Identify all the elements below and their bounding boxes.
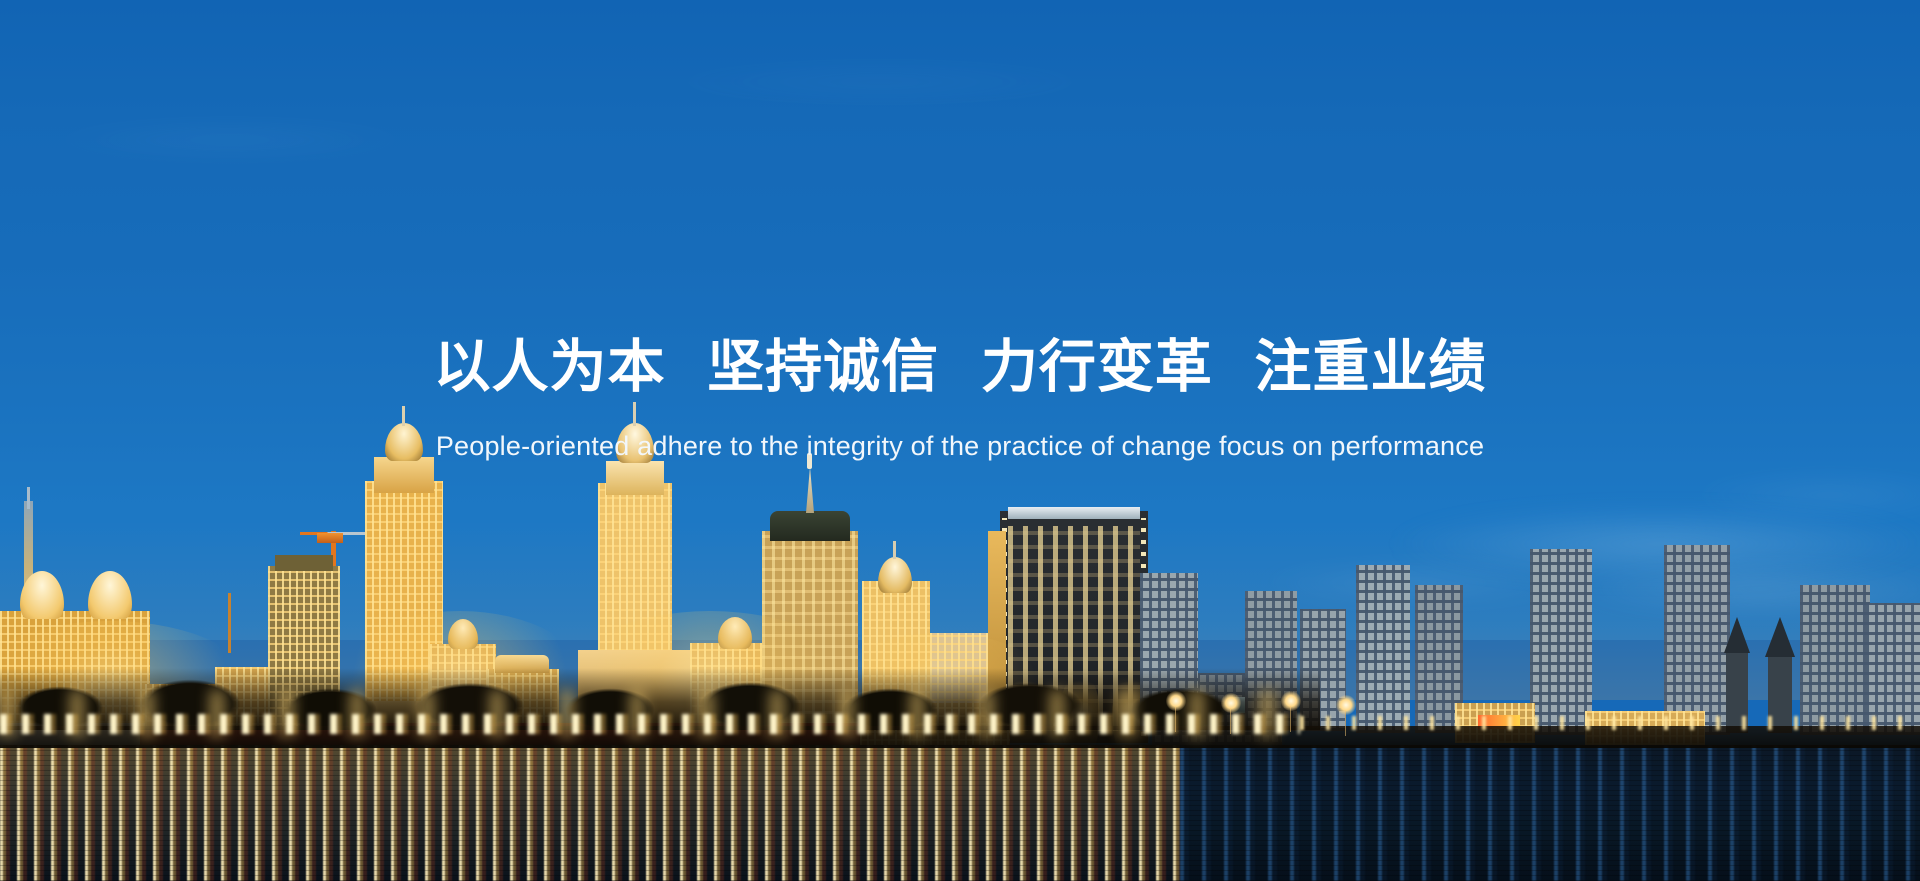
midrise-dome	[448, 619, 478, 649]
ornate-hotel-mansard	[770, 511, 850, 541]
castle-turret-roof	[1765, 617, 1795, 657]
palace-dome	[718, 617, 752, 649]
water-ripples	[0, 745, 1920, 881]
dome-left-b	[88, 571, 132, 619]
residential-slab	[1664, 545, 1730, 735]
banner-text-block: 以人为本 坚持诚信 力行变革 注重业绩 People-oriented adhe…	[0, 336, 1920, 462]
gold-tower-b-setback	[606, 461, 664, 495]
spire-tip	[27, 487, 30, 509]
promenade-lamp-row	[0, 714, 1300, 734]
banner-subtitle: People-oriented adhere to the integrity …	[0, 431, 1920, 462]
hero-banner: 以人为本 坚持诚信 力行变革 注重业绩 People-oriented adhe…	[0, 0, 1920, 881]
tower-uc-crown	[275, 555, 333, 571]
dark-highrise-crown	[1008, 507, 1140, 519]
construction-crane-counterjib	[317, 533, 343, 543]
residential-slab	[1800, 585, 1870, 735]
banner-headline: 以人为本 坚持诚信 力行变革 注重业绩	[0, 336, 1920, 400]
promenade-lamp-row-right	[1300, 716, 1920, 730]
gold-tower-c-finial	[893, 541, 896, 559]
residential-slab	[1356, 565, 1410, 733]
residential-slab	[1530, 549, 1592, 735]
river-water	[0, 745, 1920, 881]
ornate-hotel-spire	[806, 467, 814, 513]
gold-tower-a-setback	[374, 457, 434, 493]
gold-tower-c-dome	[878, 557, 912, 593]
construction-crane-mast	[228, 593, 231, 653]
